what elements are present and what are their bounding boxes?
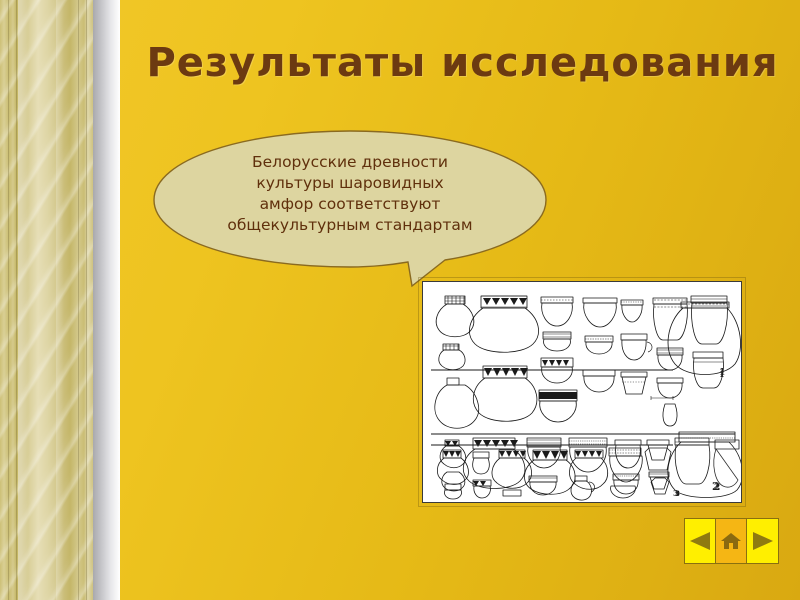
slide: Результаты исследования Белорусские древ… (0, 0, 800, 600)
pottery-drawings: 1 2 3 (423, 282, 742, 503)
decorative-column (0, 0, 93, 600)
home-button[interactable] (716, 519, 747, 563)
forward-button[interactable] (747, 519, 778, 563)
page-title: Результаты исследования (140, 40, 785, 86)
column-shadow-strip (93, 0, 120, 600)
callout-line-3: амфор соответствуют (150, 194, 550, 215)
plate-label-3: 3 (673, 488, 679, 498)
callout-line-1: Белорусские древности (150, 152, 550, 173)
navigation-bar (684, 518, 779, 564)
callout-line-2: культуры шаровидных (150, 173, 550, 194)
right-triangle-icon (752, 531, 774, 551)
back-button[interactable] (685, 519, 716, 563)
plate-label-2: 2 (712, 480, 720, 493)
pottery-plate-figure: 1 2 3 (422, 281, 742, 503)
callout-line-4: общекультурным стандартам (150, 215, 550, 236)
plate-label-1: 1 (719, 368, 725, 378)
home-icon (720, 531, 742, 551)
left-triangle-icon (689, 531, 711, 551)
callout-text: Белорусские древности культуры шаровидны… (150, 152, 550, 236)
callout-bubble: Белорусские древности культуры шаровидны… (150, 128, 550, 288)
